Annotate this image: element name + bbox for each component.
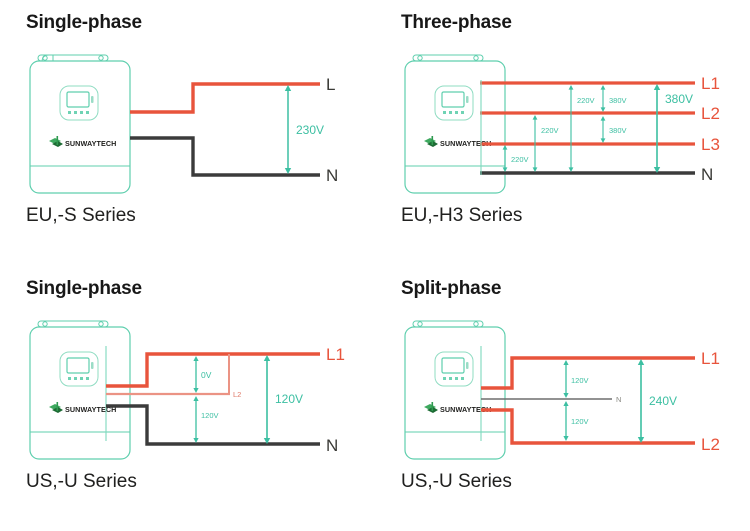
panel-eu-h3: Three-phase	[375, 0, 750, 265]
measurement-arrow	[563, 360, 568, 398]
measurement-label: 230V	[296, 123, 324, 137]
terminal-label-l3: L3	[701, 135, 720, 154]
measurement-arrow	[601, 116, 606, 143]
panel-caption: US,-U Series	[26, 471, 137, 493]
terminal-label-l2: L2	[701, 435, 720, 454]
terminal-label-l1: L1	[701, 349, 720, 368]
stub-label-l2: L2	[233, 390, 241, 399]
panel-us-u-split: Split-phase	[375, 266, 750, 531]
inverter-device: SUNWAYTECH	[30, 321, 130, 459]
measurement-label: 380V	[665, 92, 693, 106]
measurement-label: 120V	[571, 417, 589, 426]
measurement-label: 220V	[577, 96, 595, 105]
terminal-label-n: N	[326, 166, 338, 185]
measurement-arrow	[563, 401, 568, 441]
inverter-device: SUNWAYTECH	[405, 321, 505, 459]
terminal-label-l2: L2	[701, 104, 720, 123]
panel-caption: US,-U Series	[401, 471, 512, 493]
measurement-label: 0V	[201, 370, 212, 380]
panel-caption: EU,-S Series	[26, 205, 136, 227]
measurement-label: 380V	[609, 126, 627, 135]
measurement-arrow	[569, 85, 574, 172]
terminal-label-n: N	[326, 436, 338, 455]
panel-caption: EU,-H3 Series	[401, 205, 522, 227]
terminal-label-n: N	[701, 165, 713, 184]
terminal-label-l1: L1	[701, 74, 720, 93]
inverter-device: SUNWAYTECH	[30, 55, 130, 193]
measurement-label: 380V	[609, 96, 627, 105]
brand-text: SUNWAYTECH	[65, 139, 116, 148]
measurement-arrow	[601, 85, 606, 112]
panel-us-u-single: Single-phase	[0, 266, 375, 531]
measurement-label: 220V	[511, 155, 529, 164]
panel-eu-s: Single-phase	[0, 0, 375, 265]
measurement-label: 240V	[649, 394, 677, 408]
measurement-arrow	[264, 355, 270, 444]
measurement-label: 120V	[275, 392, 303, 406]
measurement-arrow	[285, 85, 291, 174]
measurement-label: 120V	[201, 411, 219, 420]
measurement-label: 220V	[541, 126, 559, 135]
terminal-label-l1: L1	[326, 345, 345, 364]
stub-label-n: N	[616, 395, 621, 404]
measurement-arrow	[193, 356, 198, 393]
wiring-diagram-sheet: Single-phase	[0, 0, 750, 531]
measurement-arrow	[654, 84, 660, 173]
terminal-label-l: L	[326, 75, 335, 94]
measurement-label: 120V	[571, 376, 589, 385]
measurement-arrow	[638, 359, 644, 443]
measurement-arrow	[193, 396, 198, 443]
